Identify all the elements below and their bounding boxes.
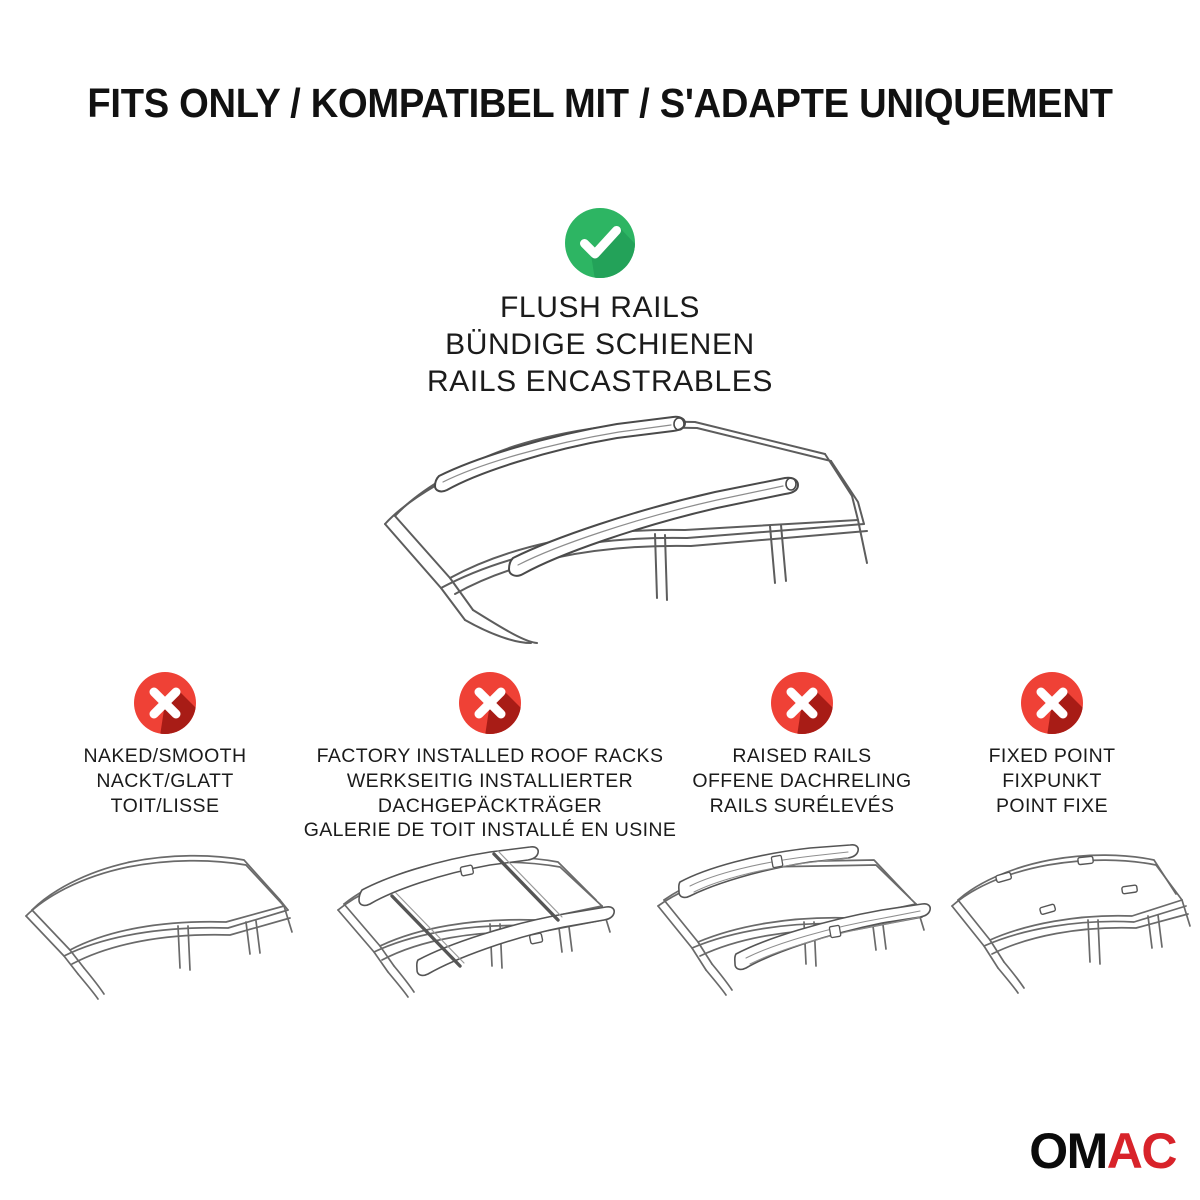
omac-logo: OMAC [1029, 1124, 1176, 1178]
omac-logo-red: AC [1107, 1126, 1176, 1176]
compatible-label-en: FLUSH RAILS [0, 290, 1200, 327]
incompatible-label-en: NAKED/SMOOTH [45, 744, 285, 769]
incompatible-illustrations [0, 838, 1200, 1088]
red-x-icon [771, 672, 833, 734]
header: FITS ONLY / KOMPATIBEL MIT / S'ADAPTE UN… [0, 82, 1200, 125]
incompatible-label-en: FIXED POINT [952, 744, 1152, 769]
incompatible-label-fr: RAILS SURÉLEVÉS [672, 794, 932, 819]
incompatible-item-factory-roof-racks: FACTORY INSTALLED ROOF RACKS WERKSEITIG … [300, 672, 680, 843]
incompatible-item-fixed-point: FIXED POINT FIXPUNKT POINT FIXE [952, 672, 1152, 818]
incompatible-label-de-1: WERKSEITIG INSTALLIERTER [300, 769, 680, 794]
page-title: FITS ONLY / KOMPATIBEL MIT / S'ADAPTE UN… [42, 82, 1158, 125]
car-roof-fixed-point-illustration [940, 838, 1195, 1088]
incompatible-label-en: RAISED RAILS [672, 744, 932, 769]
red-x-icon [134, 672, 196, 734]
incompatible-item-naked-smooth: NAKED/SMOOTH NACKT/GLATT TOIT/LISSE [45, 672, 285, 818]
car-roof-raised-rails-illustration [634, 838, 946, 1088]
incompatible-label-de: OFFENE DACHRELING [672, 769, 932, 794]
incompatible-labels: NAKED/SMOOTH NACKT/GLATT TOIT/LISSE [45, 744, 285, 818]
car-roof-naked-smooth-illustration [12, 838, 312, 1088]
compatibility-infographic: FITS ONLY / KOMPATIBEL MIT / S'ADAPTE UN… [0, 0, 1200, 1200]
incompatible-labels: FIXED POINT FIXPUNKT POINT FIXE [952, 744, 1152, 818]
omac-logo-dark: OM [1029, 1126, 1107, 1176]
incompatible-labels: RAISED RAILS OFFENE DACHRELING RAILS SUR… [672, 744, 932, 818]
incompatible-label-de-2: DACHGEPÄCKTRÄGER [300, 794, 680, 819]
car-roof-factory-installed-roof-racks-illustration [318, 838, 638, 1088]
red-x-icon [459, 672, 521, 734]
incompatible-label-fr: TOIT/LISSE [45, 794, 285, 819]
compatible-label-de: BÜNDIGE SCHIENEN [0, 327, 1200, 364]
incompatible-label-de: NACKT/GLATT [45, 769, 285, 794]
incompatible-label-de: FIXPUNKT [952, 769, 1152, 794]
compatible-label-fr: RAILS ENCASTRABLES [0, 364, 1200, 401]
incompatible-item-raised-rails: RAISED RAILS OFFENE DACHRELING RAILS SUR… [672, 672, 932, 818]
compatible-section: FLUSH RAILS BÜNDIGE SCHIENEN RAILS ENCAS… [0, 208, 1200, 401]
car-roof-with-flush-rails-illustration [355, 398, 875, 643]
green-check-icon [565, 208, 635, 278]
red-x-icon [1021, 672, 1083, 734]
incompatible-labels: FACTORY INSTALLED ROOF RACKS WERKSEITIG … [300, 744, 680, 843]
incompatible-label-en: FACTORY INSTALLED ROOF RACKS [300, 744, 680, 769]
incompatible-section: NAKED/SMOOTH NACKT/GLATT TOIT/LISSE FACT… [0, 672, 1200, 852]
incompatible-label-fr: POINT FIXE [952, 794, 1152, 819]
compatible-labels: FLUSH RAILS BÜNDIGE SCHIENEN RAILS ENCAS… [0, 290, 1200, 401]
